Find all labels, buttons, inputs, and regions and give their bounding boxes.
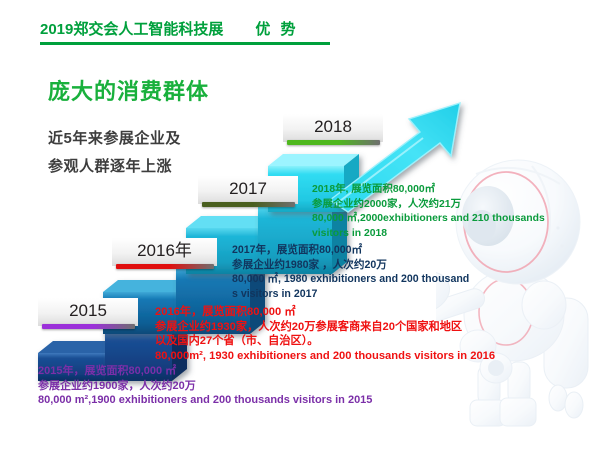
info-2015-line-1: 2015年，展览面积80,000 ㎡ bbox=[38, 364, 372, 379]
year-bar-2018 bbox=[287, 140, 380, 145]
year-plate-2017: 2017 bbox=[198, 176, 298, 207]
info-2018-line-4: visitors in 2018 bbox=[312, 227, 545, 242]
slide-canvas: 2019郑交会人工智能科技展 优 势 庞大的消费群体 近5年来参展企业及 参观人… bbox=[0, 0, 600, 450]
header-underline bbox=[40, 42, 330, 45]
info-2017-line-3: 80,000 ㎡, 1980 exhibitioners and 200 tho… bbox=[232, 272, 469, 287]
year-bar-2016 bbox=[116, 264, 214, 269]
header-main-title: 2019郑交会人工智能科技展 bbox=[40, 18, 223, 39]
info-2016-line-4: 80,000m², 1930 exhibitioners and 200 tho… bbox=[155, 349, 495, 364]
subtitle-line-2: 参观人群逐年上涨 bbox=[48, 153, 181, 181]
year-bar-2015 bbox=[42, 324, 135, 329]
info-2017-line-1: 2017年，展览面积80,000㎡ bbox=[232, 243, 469, 258]
info-2015-line-2: 参展企业约1900家，人次约20万 bbox=[38, 379, 372, 394]
year-plate-2018: 2018 bbox=[283, 114, 383, 145]
info-block-2017: 2017年，展览面积80,000㎡ 参展企业约1980家 ，人次约20万 80,… bbox=[232, 243, 469, 301]
info-2016-line-2: 参展企业约1930家，人次约20万参展客商来自20个国家和地区 bbox=[155, 320, 495, 335]
info-2016-line-1: 2016年，展览面积80,000 ㎡ bbox=[155, 305, 495, 320]
info-block-2015: 2015年，展览面积80,000 ㎡ 参展企业约1900家，人次约20万 80,… bbox=[38, 364, 372, 408]
year-label-2018: 2018 bbox=[283, 114, 383, 140]
header-sub-title: 优 势 bbox=[255, 18, 298, 39]
year-bar-2017 bbox=[202, 202, 295, 207]
info-2018-line-1: 2018年, 展览面积80,000㎡ bbox=[312, 183, 545, 198]
year-plate-2015: 2015 bbox=[38, 298, 138, 329]
year-label-2016: 2016年 bbox=[112, 238, 217, 264]
year-plate-2016: 2016年 bbox=[112, 238, 217, 269]
info-block-2016: 2016年，展览面积80,000 ㎡ 参展企业约1930家，人次约20万参展客商… bbox=[155, 305, 495, 363]
info-2016-line-3: 以及国内27个省（市、自治区）。 bbox=[155, 334, 495, 349]
year-label-2017: 2017 bbox=[198, 176, 298, 202]
info-2015-line-3: 80,000 m²,1900 exhibitioners and 200 tho… bbox=[38, 393, 372, 408]
subtitle-line-1: 近5年来参展企业及 bbox=[48, 125, 181, 153]
page-title: 庞大的消费群体 bbox=[48, 74, 209, 106]
info-2017-line-4: s visitors in 2017 bbox=[232, 287, 469, 302]
info-block-2018: 2018年, 展览面积80,000㎡ 参展企业约2000家，人次约21万 80,… bbox=[312, 183, 545, 241]
info-2018-line-2: 参展企业约2000家，人次约21万 bbox=[312, 198, 545, 213]
page-subtitle: 近5年来参展企业及 参观人群逐年上涨 bbox=[48, 125, 181, 181]
slide-header: 2019郑交会人工智能科技展 优 势 bbox=[40, 18, 360, 45]
year-label-2015: 2015 bbox=[38, 298, 138, 324]
info-2017-line-2: 参展企业约1980家 ，人次约20万 bbox=[232, 258, 469, 273]
info-2018-line-3: 80,000 ㎡,2000exhibitioners and 210 thous… bbox=[312, 212, 545, 227]
